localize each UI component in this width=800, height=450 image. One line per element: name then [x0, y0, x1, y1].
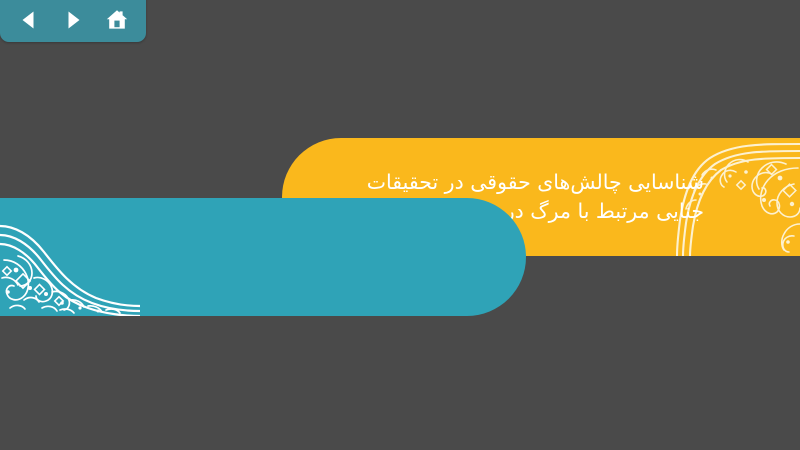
forward-button[interactable]: [58, 6, 88, 34]
arabesque-ornament-icon: [0, 208, 140, 316]
back-button[interactable]: [14, 6, 44, 34]
triangle-left-icon: [18, 9, 40, 31]
home-button[interactable]: [102, 6, 132, 34]
triangle-right-icon: [62, 9, 84, 31]
slide-canvas: شناسایی چالش‌های حقوقی در تحقیقات جنایی …: [0, 0, 800, 450]
title-line-1: شناسایی چالش‌های حقوقی در تحقیقات: [322, 168, 704, 197]
home-icon: [105, 8, 129, 32]
navigation-toolbar: [0, 0, 146, 42]
accent-band: [0, 198, 526, 316]
